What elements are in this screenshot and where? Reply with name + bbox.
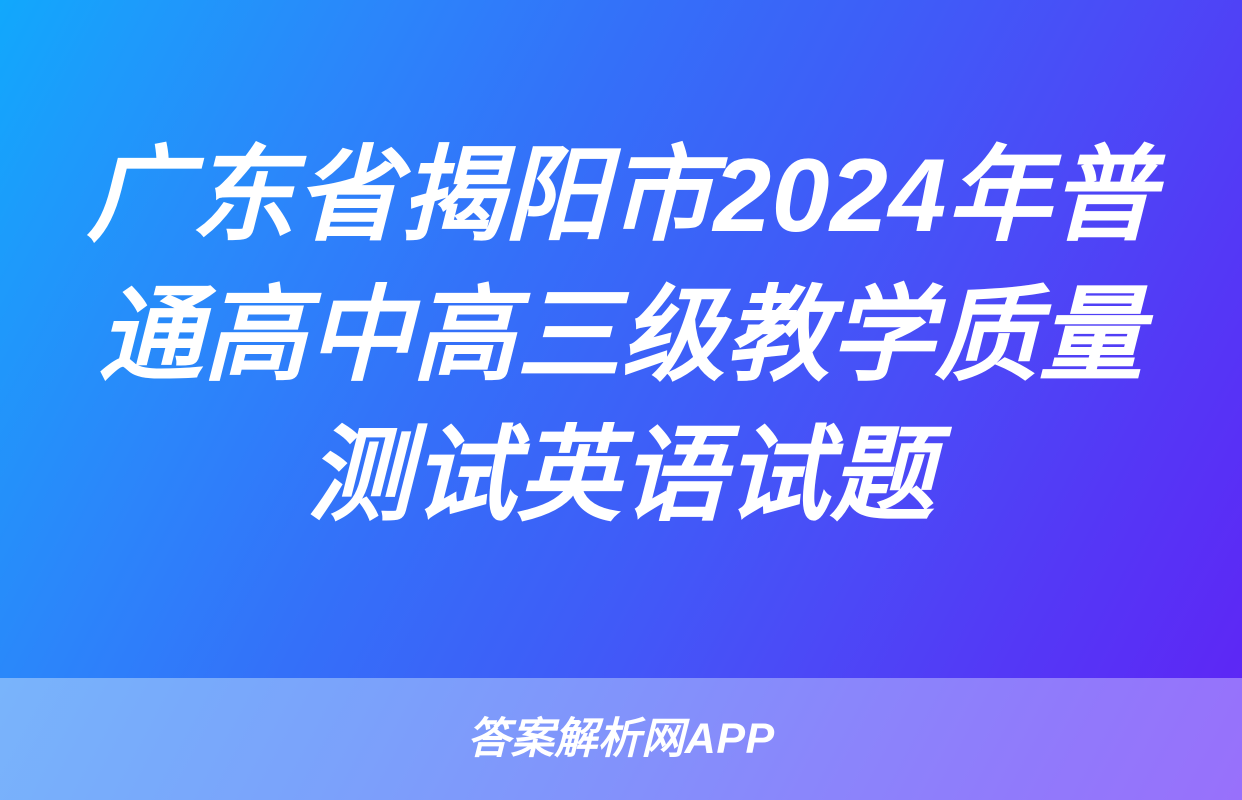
hero-banner: 广东省揭阳市2024年普通高中高三级教学质量测试英语试题 (0, 0, 1242, 678)
watermark-text: 答案解析网APP (467, 715, 774, 763)
watermark-bar: 答案解析网APP (0, 678, 1242, 800)
poster-canvas: 广东省揭阳市2024年普通高中高三级教学质量测试英语试题 答案解析网APP (0, 0, 1242, 800)
page-title: 广东省揭阳市2024年普通高中高三级教学质量测试英语试题 (61, 126, 1181, 552)
